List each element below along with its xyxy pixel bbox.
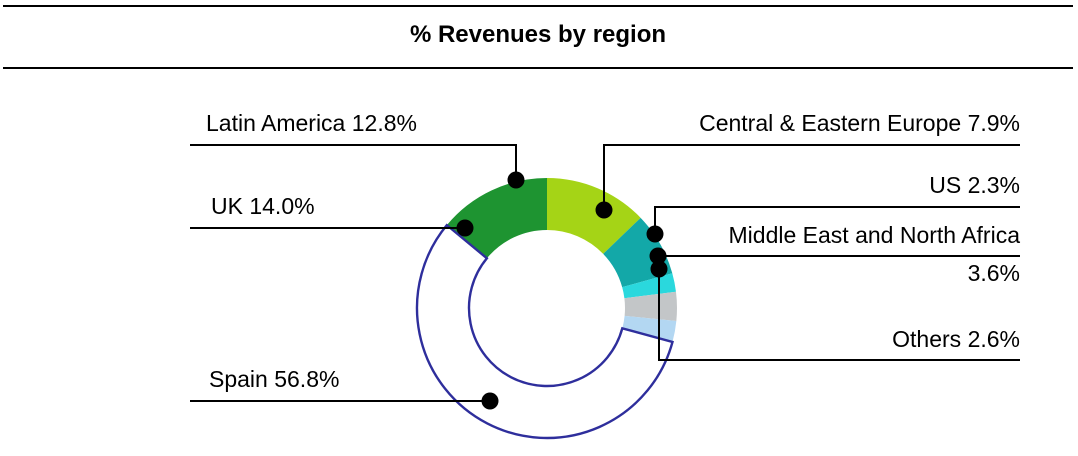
label-mena-line1: Middle East and North Africa xyxy=(620,222,1020,248)
label-spain: Spain 56.8% xyxy=(209,366,339,392)
label-mena-line2: 3.6% xyxy=(620,260,1020,286)
label-cee: Central & Eastern Europe 7.9% xyxy=(520,110,1020,136)
chart-page: % Revenues by region xyxy=(0,0,1078,456)
slice-middle-east-and-north-africa[interactable] xyxy=(650,295,651,318)
label-uk: UK 14.0% xyxy=(211,193,315,219)
marker-latin-america xyxy=(508,172,525,189)
leader-latin-america xyxy=(190,145,516,180)
label-us: US 2.3% xyxy=(620,172,1020,198)
page-title: % Revenues by region xyxy=(3,21,1073,49)
label-others: Others 2.6% xyxy=(620,326,1020,352)
marker-cee xyxy=(596,202,613,219)
label-latin-america: Latin America 12.8% xyxy=(206,110,417,136)
marker-spain xyxy=(482,393,499,410)
marker-uk xyxy=(457,220,474,237)
title-band: % Revenues by region xyxy=(3,5,1073,69)
slice-uk[interactable] xyxy=(467,204,547,242)
donut-chart: Latin America 12.8% UK 14.0% Spain 56.8%… xyxy=(0,70,1078,456)
